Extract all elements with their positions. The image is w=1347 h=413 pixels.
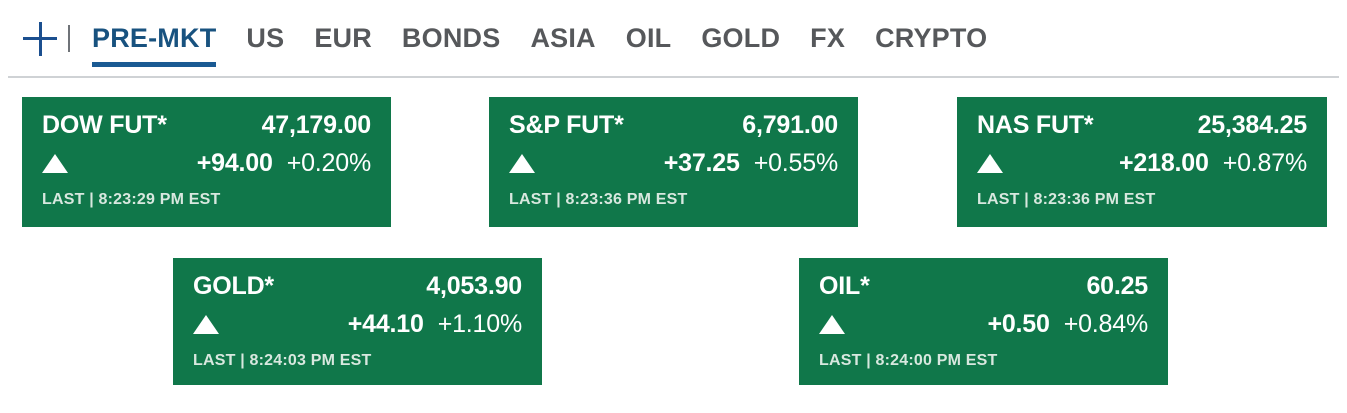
ticker-price: 4,053.90 — [426, 272, 522, 301]
ticker-card-nas-fut[interactable]: NAS FUT* 25,384.25 +218.00 +0.87% LAST |… — [957, 97, 1327, 227]
ticker-symbol: DOW FUT* — [42, 111, 167, 140]
ticker-symbol: GOLD* — [193, 272, 274, 301]
arrow-up-icon — [42, 154, 68, 173]
ticker-percent: +0.87% — [1223, 149, 1307, 178]
ticker-symbol: NAS FUT* — [977, 111, 1093, 140]
arrow-up-icon — [193, 315, 219, 334]
ticker-change-row: +44.10 +1.10% — [193, 310, 522, 339]
ticker-price: 60.25 — [1086, 272, 1148, 301]
ticker-percent: +1.10% — [438, 310, 522, 339]
ticker-change-group: +218.00 +0.87% — [1119, 149, 1307, 178]
arrow-up-icon — [509, 154, 535, 173]
ticker-header-row: DOW FUT* 47,179.00 — [42, 111, 371, 140]
ticker-card-gold[interactable]: GOLD* 4,053.90 +44.10 +1.10% LAST | 8:24… — [173, 258, 542, 385]
ticker-last-timestamp: LAST | 8:24:03 PM EST — [193, 352, 522, 370]
ticker-change-group: +37.25 +0.55% — [664, 149, 838, 178]
ticker-header-row: S&P FUT* 6,791.00 — [509, 111, 838, 140]
market-ticker-page: PRE-MKT US EUR BONDS ASIA OIL GOLD FX CR… — [0, 0, 1347, 413]
ticker-change-row: +218.00 +0.87% — [977, 149, 1307, 178]
ticker-last-timestamp: LAST | 8:24:00 PM EST — [819, 352, 1148, 370]
ticker-last-timestamp: LAST | 8:23:29 PM EST — [42, 191, 371, 209]
ticker-percent: +0.55% — [754, 149, 838, 178]
ticker-last-timestamp: LAST | 8:23:36 PM EST — [977, 191, 1307, 209]
ticker-change-row: +94.00 +0.20% — [42, 149, 371, 178]
ticker-change: +94.00 — [197, 149, 273, 178]
ticker-symbol: OIL* — [819, 272, 870, 301]
ticker-symbol: S&P FUT* — [509, 111, 624, 140]
ticker-card-grid: DOW FUT* 47,179.00 +94.00 +0.20% LAST | … — [0, 0, 1347, 413]
ticker-change: +37.25 — [664, 149, 740, 178]
ticker-change-row: +37.25 +0.55% — [509, 149, 838, 178]
arrow-up-icon — [819, 315, 845, 334]
ticker-header-row: NAS FUT* 25,384.25 — [977, 111, 1307, 140]
arrow-up-icon — [977, 154, 1003, 173]
ticker-card-dow-fut[interactable]: DOW FUT* 47,179.00 +94.00 +0.20% LAST | … — [22, 97, 391, 227]
ticker-change: +0.50 — [987, 310, 1049, 339]
ticker-change: +44.10 — [348, 310, 424, 339]
ticker-card-oil[interactable]: OIL* 60.25 +0.50 +0.84% LAST | 8:24:00 P… — [799, 258, 1168, 385]
ticker-change-group: +94.00 +0.20% — [197, 149, 371, 178]
ticker-percent: +0.20% — [287, 149, 371, 178]
ticker-price: 47,179.00 — [262, 111, 371, 140]
ticker-percent: +0.84% — [1064, 310, 1148, 339]
ticker-header-row: GOLD* 4,053.90 — [193, 272, 522, 301]
ticker-change-group: +44.10 +1.10% — [348, 310, 522, 339]
ticker-header-row: OIL* 60.25 — [819, 272, 1148, 301]
ticker-price: 6,791.00 — [742, 111, 838, 140]
ticker-change: +218.00 — [1119, 149, 1209, 178]
ticker-last-timestamp: LAST | 8:23:36 PM EST — [509, 191, 838, 209]
ticker-change-row: +0.50 +0.84% — [819, 310, 1148, 339]
ticker-change-group: +0.50 +0.84% — [987, 310, 1148, 339]
ticker-card-sp-fut[interactable]: S&P FUT* 6,791.00 +37.25 +0.55% LAST | 8… — [489, 97, 858, 227]
ticker-price: 25,384.25 — [1198, 111, 1307, 140]
